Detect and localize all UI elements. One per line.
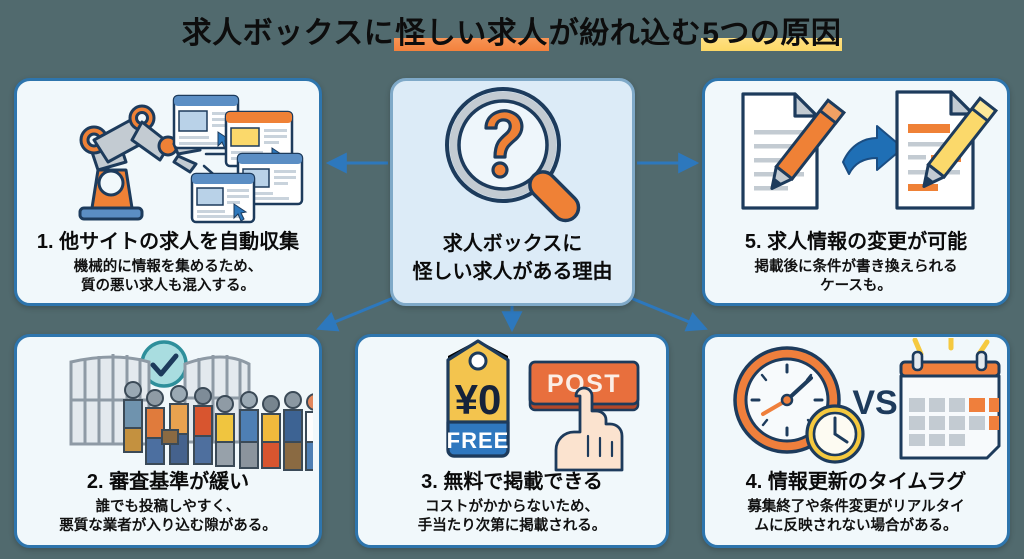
card-reason-2[interactable]: 2. 審査基準が緩い 誰でも投稿しやすく、 悪質な業者が入り込む隙がある。: [14, 334, 322, 548]
card-reason-4[interactable]: VS: [702, 334, 1010, 548]
card-3-title: 3. 無料で掲載できる: [366, 471, 658, 494]
card-5-sub-line-1: 掲載後に条件が書き換えられる: [713, 258, 999, 277]
card-3-subtitle: コストがかからないため、 手当たり次第に掲載される。: [366, 498, 658, 536]
document-edit-arrow-icon: [705, 81, 1007, 229]
card-5-title: 5. 求人情報の変更が可能: [713, 231, 999, 254]
card-1-title: 1. 他サイトの求人を自動収集: [25, 231, 311, 254]
card-3-sub-line-2: 手当たり次第に掲載される。: [366, 517, 658, 536]
robot-arm-webpages-icon: [17, 81, 319, 229]
card-3-sub-line-1: コストがかからないため、: [366, 498, 658, 517]
title-part-1: 求人ボックスに: [182, 17, 395, 50]
magnifying-glass-question-icon: [393, 81, 632, 229]
clock-vs-calendar-icon: VS: [705, 337, 1007, 475]
card-center-text-block: 求人ボックスに 怪しい求人がある理由: [393, 231, 632, 286]
title-part-2: が紛れ込む: [549, 17, 702, 50]
card-2-text-block: 2. 審査基準が緩い 誰でも投稿しやすく、 悪質な業者が入り込む隙がある。: [17, 471, 319, 536]
card-4-subtitle: 募集終了や条件変更がリアルタイ ムに反映されない場合がある。: [713, 498, 999, 536]
card-4-sub-line-1: 募集終了や条件変更がリアルタイ: [713, 498, 999, 517]
card-1-text-block: 1. 他サイトの求人を自動収集 機械的に情報を集めるため、 質の悪い求人も混入す…: [17, 231, 319, 296]
card-5-text-block: 5. 求人情報の変更が可能 掲載後に条件が書き換えられる ケースも。: [705, 231, 1007, 296]
page-title: 求人ボックスに怪しい求人が紛れ込む5つの原因: [182, 19, 843, 49]
free-price-tag-post-button-icon: ¥0 FREE POST: [358, 337, 666, 475]
card-center-title-line-2: 怪しい求人がある理由: [401, 259, 624, 287]
card-2-sub-line-1: 誰でも投稿しやすく、: [25, 498, 311, 517]
card-reason-5[interactable]: 5. 求人情報の変更が可能 掲載後に条件が書き換えられる ケースも。: [702, 78, 1010, 306]
card-2-subtitle: 誰でも投稿しやすく、 悪質な業者が入り込む隙がある。: [25, 498, 311, 536]
svg-text:FREE: FREE: [447, 428, 510, 453]
card-1-sub-line-2: 質の悪い求人も混入する。: [25, 277, 311, 296]
card-2-title: 2. 審査基準が緩い: [25, 471, 311, 494]
vs-label: VS: [852, 384, 897, 422]
card-4-text-block: 4. 情報更新のタイムラグ 募集終了や条件変更がリアルタイ ムに反映されない場合…: [705, 471, 1007, 536]
card-3-text-block: 3. 無料で掲載できる コストがかからないため、 手当たり次第に掲載される。: [358, 471, 666, 536]
svg-text:¥0: ¥0: [455, 376, 502, 423]
card-5-subtitle: 掲載後に条件が書き換えられる ケースも。: [713, 258, 999, 296]
card-1-subtitle: 機械的に情報を集めるため、 質の悪い求人も混入する。: [25, 258, 311, 296]
open-gate-crowd-check-icon: [17, 337, 319, 475]
card-4-title: 4. 情報更新のタイムラグ: [713, 471, 999, 494]
page-header: 求人ボックスに怪しい求人が紛れ込む5つの原因: [0, 8, 1024, 60]
card-4-sub-line-2: ムに反映されない場合がある。: [713, 517, 999, 536]
card-5-sub-line-2: ケースも。: [713, 277, 999, 296]
price-tag-icon: ¥0 FREE: [447, 340, 510, 456]
calendar-icon: [901, 338, 999, 458]
title-highlight-orange: 怪しい求人: [394, 19, 549, 49]
title-highlight-yellow: 5つの原因: [701, 19, 842, 49]
card-center-topic[interactable]: 求人ボックスに 怪しい求人がある理由: [390, 78, 635, 306]
card-center-title-line-1: 求人ボックスに: [401, 231, 624, 259]
card-reason-3[interactable]: ¥0 FREE POST 3. 無料で掲載できる コストがかからないため、 手当…: [355, 334, 669, 548]
card-reason-1[interactable]: 1. 他サイトの求人を自動収集 機械的に情報を集めるため、 質の悪い求人も混入す…: [14, 78, 322, 306]
card-2-sub-line-2: 悪質な業者が入り込む隙がある。: [25, 517, 311, 536]
card-1-sub-line-1: 機械的に情報を集めるため、: [25, 258, 311, 277]
